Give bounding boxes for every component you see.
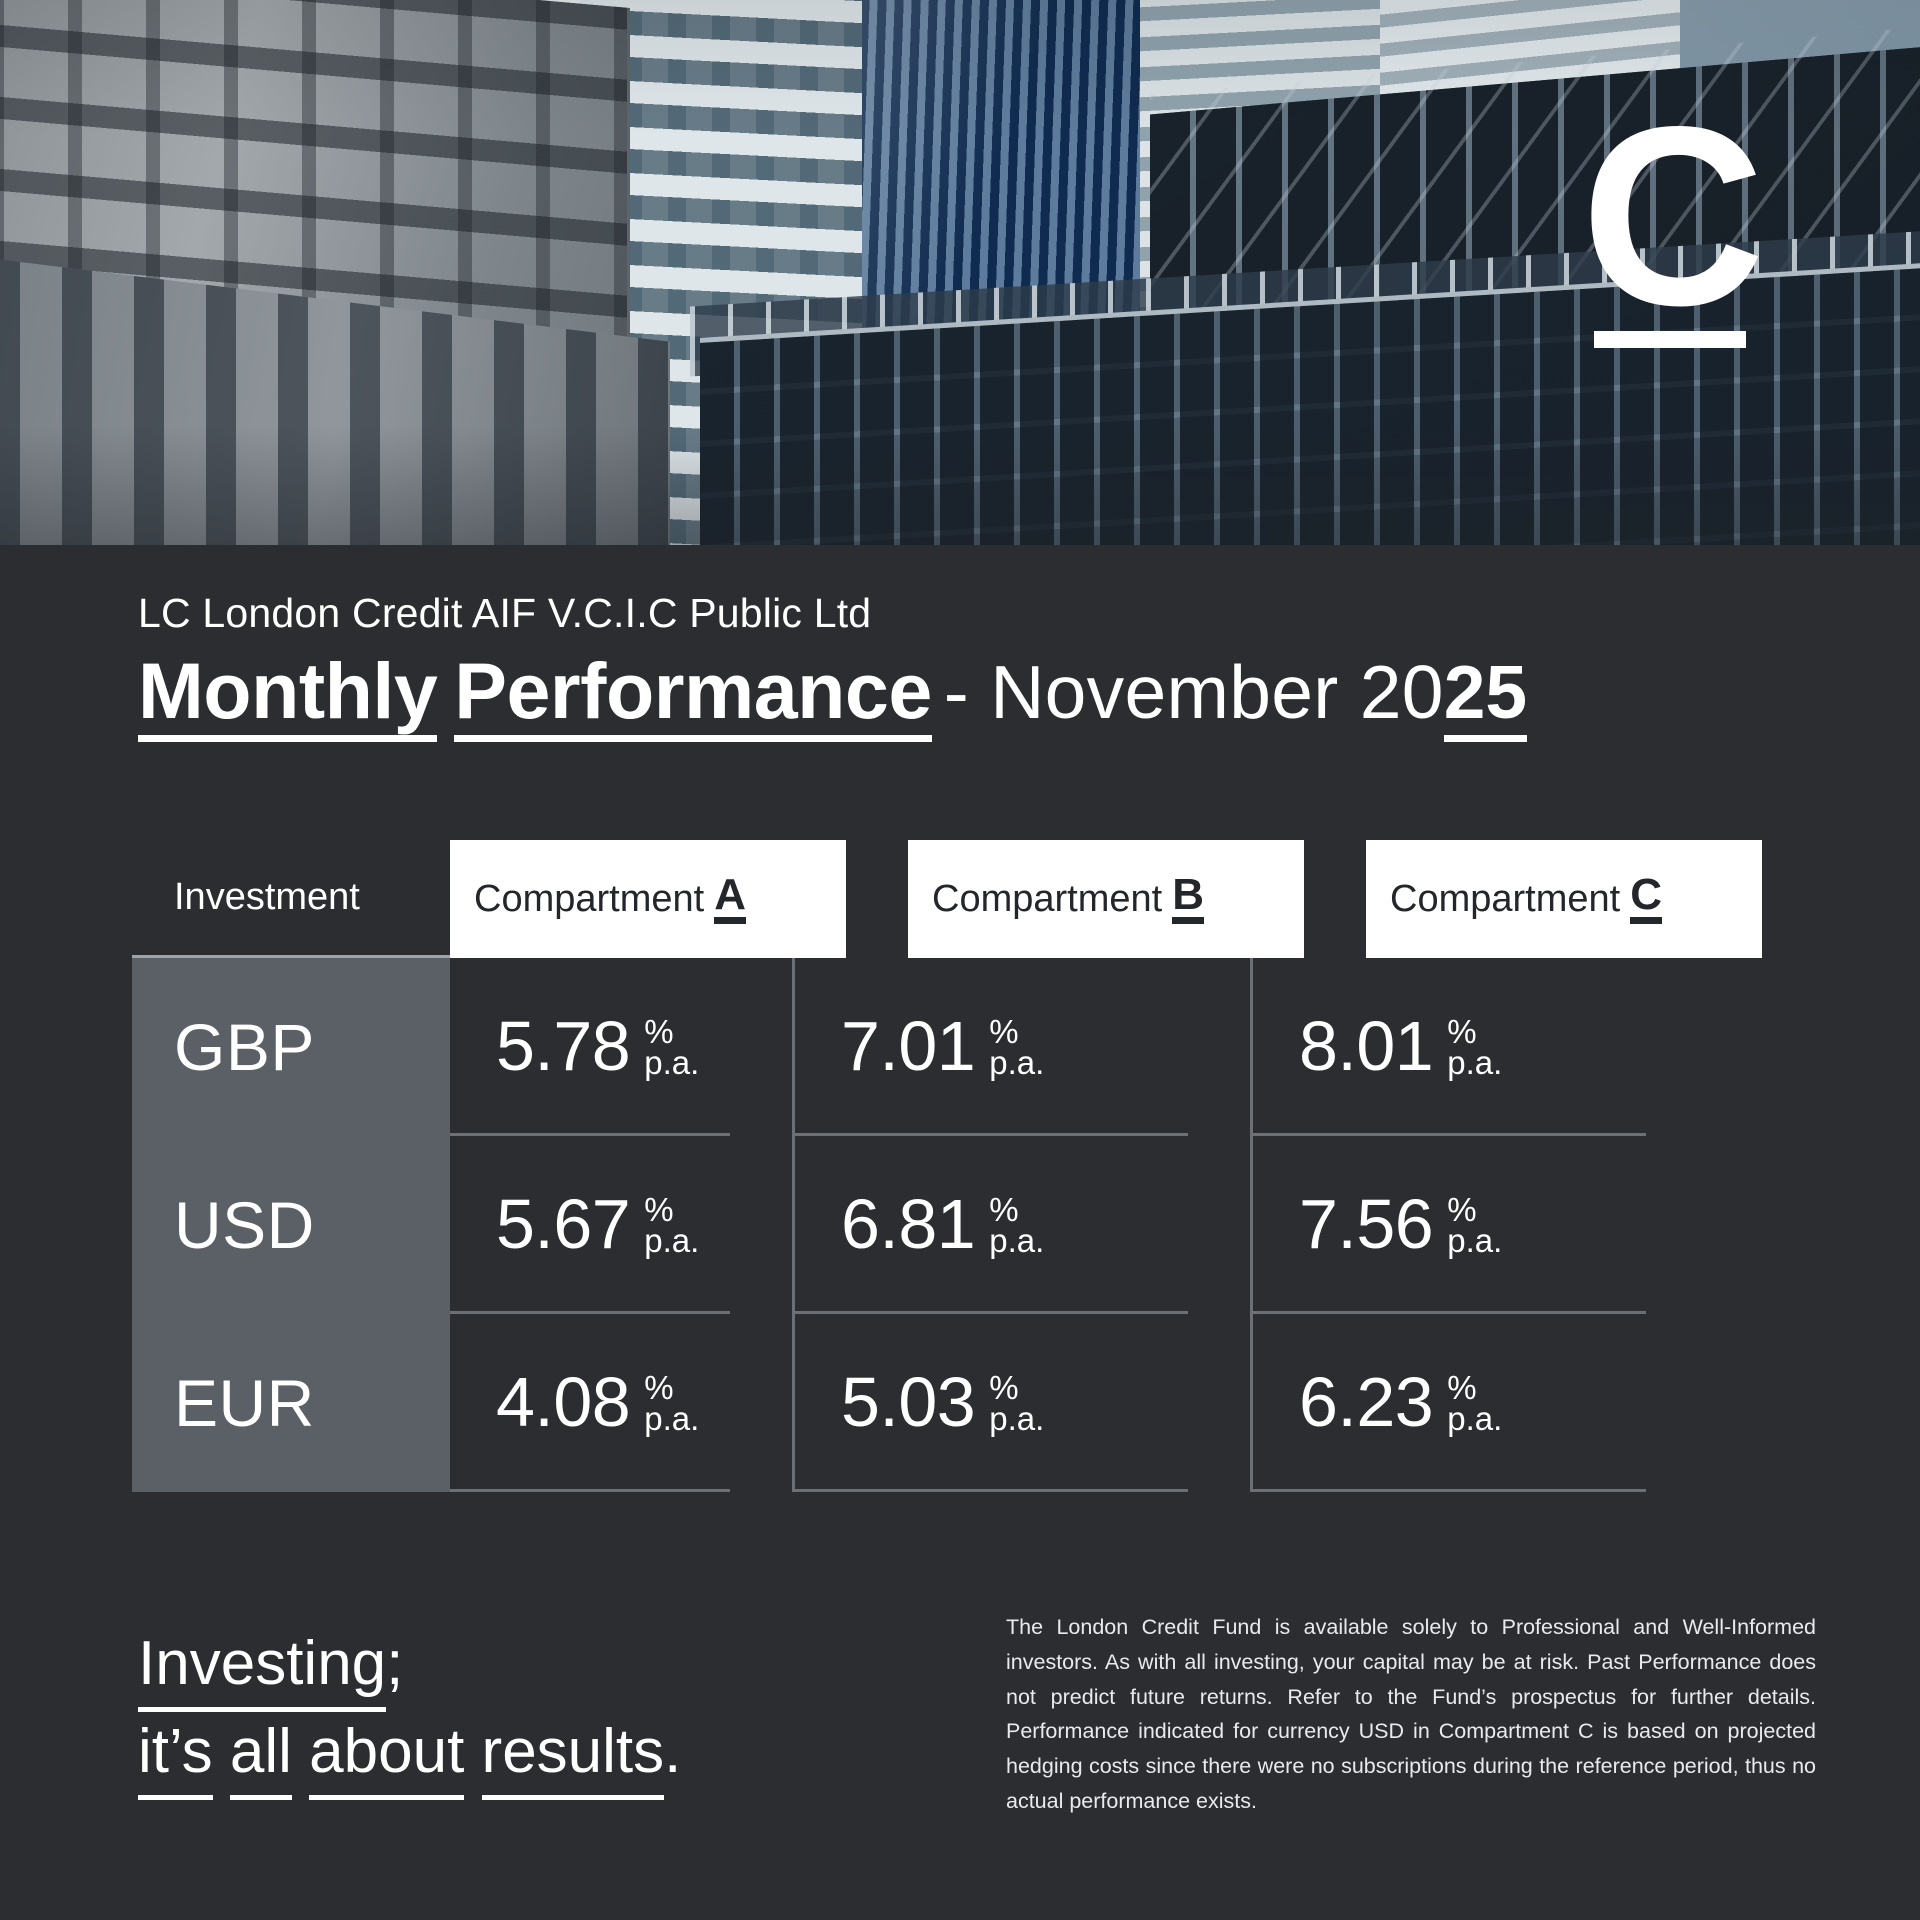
unit-pa: p.a.: [1447, 1404, 1502, 1434]
value-number: 6.81: [841, 1184, 975, 1264]
value-number: 5.78: [496, 1006, 630, 1086]
unit-percent: %: [644, 1017, 699, 1047]
value-gbp-compartment-a: 5.78 % p.a.: [450, 958, 730, 1136]
company-name: LC London Credit AIF V.C.I.C Public Ltd: [138, 590, 1527, 637]
table-row: GBP 5.78 % p.a. 7.01 % p.a.: [132, 958, 1792, 1136]
unit-pa: p.a.: [644, 1404, 699, 1434]
unit-pa: p.a.: [644, 1226, 699, 1256]
value-number: 4.08: [496, 1362, 630, 1442]
disclaimer-text: The London Credit Fund is available sole…: [1006, 1610, 1816, 1819]
column-header-b-letter: B: [1172, 874, 1204, 925]
column-header-c-prefix: Compartment: [1390, 878, 1620, 921]
tagline-punct: .: [664, 1717, 681, 1786]
currency-label-gbp: GBP: [132, 958, 450, 1136]
unit-percent-pa: % p.a.: [1447, 1369, 1502, 1434]
value-number: 5.67: [496, 1184, 630, 1264]
unit-percent-pa: % p.a.: [1447, 1191, 1502, 1256]
title-period: - November 20: [944, 655, 1444, 730]
value-number: 8.01: [1299, 1006, 1433, 1086]
tagline-word: all: [230, 1717, 292, 1800]
row-gap-2: [1188, 958, 1250, 1136]
unit-percent-pa: % p.a.: [644, 1191, 699, 1256]
unit-percent-pa: % p.a.: [1447, 1013, 1502, 1078]
value-number: 7.01: [841, 1006, 975, 1086]
unit-percent: %: [1447, 1017, 1502, 1047]
column-header-c-letter: C: [1630, 874, 1662, 925]
header-gap-1: [846, 840, 908, 958]
page-title: Monthly Performance - November 2025: [138, 651, 1527, 742]
column-header-investment-label: Investment: [174, 876, 360, 919]
unit-percent-pa: % p.a.: [989, 1013, 1044, 1078]
value-number: 5.03: [841, 1362, 975, 1442]
logo-letter-c-icon: C: [1575, 118, 1765, 317]
unit-percent: %: [989, 1017, 1044, 1047]
header-block: LC London Credit AIF V.C.I.C Public Ltd …: [138, 590, 1527, 742]
content-panel: LC London Credit AIF V.C.I.C Public Ltd …: [0, 545, 1920, 1920]
title-year: 25: [1444, 655, 1527, 742]
table-header-row: Investment Compartment A Compartment B C…: [132, 840, 1792, 958]
currency-label-usd: USD: [132, 1136, 450, 1314]
unit-percent-pa: % p.a.: [989, 1191, 1044, 1256]
unit-percent: %: [644, 1195, 699, 1225]
tagline-line-1: Investing;: [138, 1620, 681, 1708]
tagline-line-2: it’s all about results.: [138, 1708, 681, 1796]
brand-logo: C: [1575, 118, 1765, 348]
unit-pa: p.a.: [989, 1226, 1044, 1256]
column-header-b-prefix: Compartment: [932, 878, 1162, 921]
value-eur-compartment-a: 4.08 % p.a.: [450, 1314, 730, 1492]
value-number: 6.23: [1299, 1362, 1433, 1442]
tagline-punct: ;: [386, 1629, 403, 1698]
unit-percent-pa: % p.a.: [644, 1013, 699, 1078]
unit-percent: %: [644, 1373, 699, 1403]
unit-percent-pa: % p.a.: [989, 1369, 1044, 1434]
performance-table: Investment Compartment A Compartment B C…: [132, 840, 1792, 1492]
currency-label-eur: EUR: [132, 1314, 450, 1492]
tagline-word: results: [482, 1717, 665, 1800]
row-gap-2: [1188, 1136, 1250, 1314]
value-usd-compartment-a: 5.67 % p.a.: [450, 1136, 730, 1314]
unit-percent: %: [1447, 1373, 1502, 1403]
table-row: EUR 4.08 % p.a. 5.03 % p.a.: [132, 1314, 1792, 1492]
value-eur-compartment-c: 6.23 % p.a.: [1250, 1314, 1646, 1492]
unit-pa: p.a.: [644, 1048, 699, 1078]
value-usd-compartment-c: 7.56 % p.a.: [1250, 1136, 1646, 1314]
column-header-investment: Investment: [132, 840, 450, 958]
row-gap-1: [730, 1314, 792, 1492]
unit-pa: p.a.: [1447, 1048, 1502, 1078]
unit-pa: p.a.: [989, 1048, 1044, 1078]
performance-poster: C LC London Credit AIF V.C.I.C Public Lt…: [0, 0, 1920, 1920]
title-word-performance: Performance: [454, 651, 932, 742]
column-header-compartment-a: Compartment A: [450, 840, 846, 958]
tagline-word: it’s: [138, 1717, 213, 1800]
unit-percent: %: [1447, 1195, 1502, 1225]
value-eur-compartment-b: 5.03 % p.a.: [792, 1314, 1188, 1492]
title-word-monthly: Monthly: [138, 651, 437, 742]
unit-percent-pa: % p.a.: [644, 1369, 699, 1434]
tagline: Investing; it’s all about results.: [138, 1620, 681, 1796]
value-gbp-compartment-b: 7.01 % p.a.: [792, 958, 1188, 1136]
unit-percent: %: [989, 1373, 1044, 1403]
value-gbp-compartment-c: 8.01 % p.a.: [1250, 958, 1646, 1136]
table-row: USD 5.67 % p.a. 6.81 % p.a.: [132, 1136, 1792, 1314]
unit-pa: p.a.: [1447, 1226, 1502, 1256]
tagline-word: about: [309, 1717, 464, 1800]
column-header-compartment-b: Compartment B: [908, 840, 1304, 958]
value-usd-compartment-b: 6.81 % p.a.: [792, 1136, 1188, 1314]
value-number: 7.56: [1299, 1184, 1433, 1264]
row-gap-2: [1188, 1314, 1250, 1492]
column-header-compartment-c: Compartment C: [1366, 840, 1762, 958]
row-gap-1: [730, 958, 792, 1136]
header-gap-2: [1304, 840, 1366, 958]
unit-percent: %: [989, 1195, 1044, 1225]
unit-pa: p.a.: [989, 1404, 1044, 1434]
row-gap-1: [730, 1136, 792, 1314]
column-header-a-letter: A: [714, 874, 746, 925]
column-header-a-prefix: Compartment: [474, 878, 704, 921]
tagline-word: Investing: [138, 1629, 386, 1712]
